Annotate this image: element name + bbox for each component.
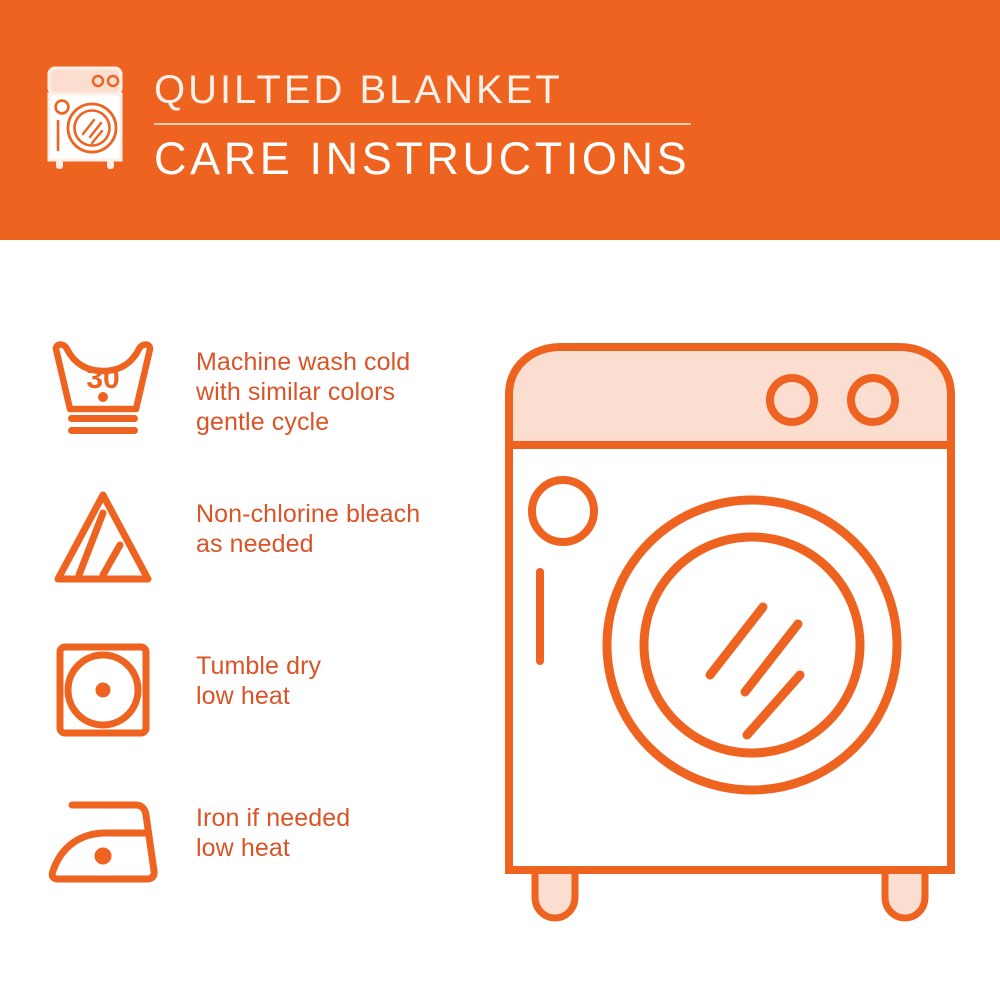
care-instruction-row-dry: Tumble dry low heat: [48, 639, 478, 791]
wash-temperature-value: 30: [86, 362, 119, 395]
care-text-line: Tumble dry: [196, 651, 321, 681]
care-text-line: low heat: [196, 833, 350, 863]
care-instructions-list: 30 Machine wash cold with similar colors…: [48, 335, 478, 943]
front-load-washing-machine-illustration: [495, 335, 965, 955]
care-text-line: gentle cycle: [196, 407, 410, 437]
care-text-line: Iron if needed: [196, 803, 350, 833]
care-text-line: Machine wash cold: [196, 347, 410, 377]
care-text-line: as needed: [196, 529, 420, 559]
header-banner: QUILTED BLANKET CARE INSTRUCTIONS: [0, 0, 1000, 240]
care-text-line: low heat: [196, 681, 321, 711]
care-instruction-text-bleach: Non-chlorine bleach as needed: [196, 487, 420, 559]
header-content: QUILTED BLANKET CARE INSTRUCTIONS: [44, 62, 691, 185]
care-instruction-row-wash: 30 Machine wash cold with similar colors…: [48, 335, 478, 487]
page-title-secondary: CARE INSTRUCTIONS: [154, 133, 691, 185]
machine-wash-30-icon: 30: [48, 335, 172, 441]
care-text-line: with similar colors: [196, 377, 410, 407]
machine-body: [509, 445, 951, 870]
iron-low-heat-icon: [48, 791, 172, 887]
non-chlorine-bleach-triangle-icon: [48, 487, 172, 587]
tumble-dry-low-heat-icon: [48, 639, 172, 743]
washing-machine-icon: [44, 62, 136, 172]
title-divider: [154, 123, 691, 125]
page-title-primary: QUILTED BLANKET: [154, 66, 691, 114]
control-panel: [509, 347, 951, 445]
header-title-block: QUILTED BLANKET CARE INSTRUCTIONS: [154, 62, 691, 185]
care-instruction-row-bleach: Non-chlorine bleach as needed: [48, 487, 478, 639]
care-text-line: Non-chlorine bleach: [196, 499, 420, 529]
care-instruction-text-dry: Tumble dry low heat: [196, 639, 321, 711]
care-instruction-text-iron: Iron if needed low heat: [196, 791, 350, 863]
care-instruction-text-wash: Machine wash cold with similar colors ge…: [196, 335, 410, 437]
care-instruction-row-iron: Iron if needed low heat: [48, 791, 478, 943]
main-content-area: 30 Machine wash cold with similar colors…: [0, 240, 1000, 1000]
